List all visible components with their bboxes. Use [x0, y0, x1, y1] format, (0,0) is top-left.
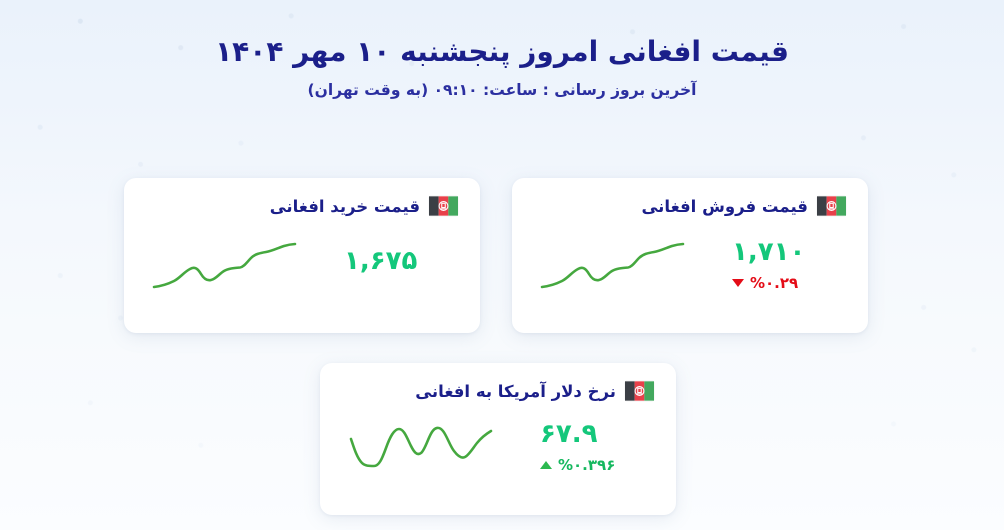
card-header: قیمت خرید افغانی	[124, 178, 480, 216]
card-body: ۱,۶۷۵	[124, 216, 480, 308]
price-card-sell[interactable]: قیمت فروش افغانی ۱,۷۱۰ %۰.۲۹	[512, 178, 868, 333]
price-change: %۰.۳۹۶	[558, 456, 615, 474]
card-body: ۱,۷۱۰ %۰.۲۹	[512, 216, 868, 308]
card-header: قیمت فروش افغانی	[512, 178, 868, 216]
triangle-up-icon	[540, 461, 552, 469]
afghanistan-flag-icon	[625, 381, 654, 401]
page-title: قیمت افغانی امروز پنجشنبه ۱۰ مهر ۱۴۰۴	[0, 34, 1004, 70]
card-title: نرخ دلار آمریکا به افغانی	[415, 382, 616, 401]
card-header: نرخ دلار آمریکا به افغانی	[320, 363, 676, 401]
price-card-usd-to-afn[interactable]: نرخ دلار آمریکا به افغانی ۶۷.۹ %۰.۳۹۶	[320, 363, 676, 515]
price-value: ۶۷.۹	[540, 420, 597, 450]
price-value: ۱,۶۷۵	[344, 247, 417, 277]
afghanistan-flag-icon	[429, 196, 458, 216]
price-change-row: %۰.۳۹۶	[540, 456, 615, 474]
price-card-buy[interactable]: قیمت خرید افغانی ۱,۶۷۵	[124, 178, 480, 333]
card-title: قیمت فروش افغانی	[641, 197, 808, 216]
value-block: ۱,۶۷۵	[344, 247, 454, 284]
card-title: قیمت خرید افغانی	[270, 197, 420, 216]
value-block: ۱,۷۱۰ %۰.۲۹	[732, 238, 842, 293]
page-header: قیمت افغانی امروز پنجشنبه ۱۰ مهر ۱۴۰۴ آخ…	[0, 0, 1004, 99]
afghanistan-flag-icon	[817, 196, 846, 216]
price-value: ۱,۷۱۰	[732, 238, 805, 268]
value-block: ۶۷.۹ %۰.۳۹۶	[540, 420, 650, 475]
sparkline-chart	[538, 231, 686, 299]
sparkline-chart	[150, 231, 298, 299]
triangle-down-icon	[732, 279, 744, 287]
sparkline-chart	[346, 412, 496, 482]
card-body: ۶۷.۹ %۰.۳۹۶	[320, 401, 676, 491]
last-update-subtitle: آخرین بروز رسانی : ساعت: ۰۹:۱۰ (به وقت ت…	[0, 81, 1004, 99]
page-content: قیمت افغانی امروز پنجشنبه ۱۰ مهر ۱۴۰۴ آخ…	[0, 0, 1004, 530]
price-change-row: %۰.۲۹	[732, 274, 798, 292]
price-change: %۰.۲۹	[750, 274, 798, 292]
